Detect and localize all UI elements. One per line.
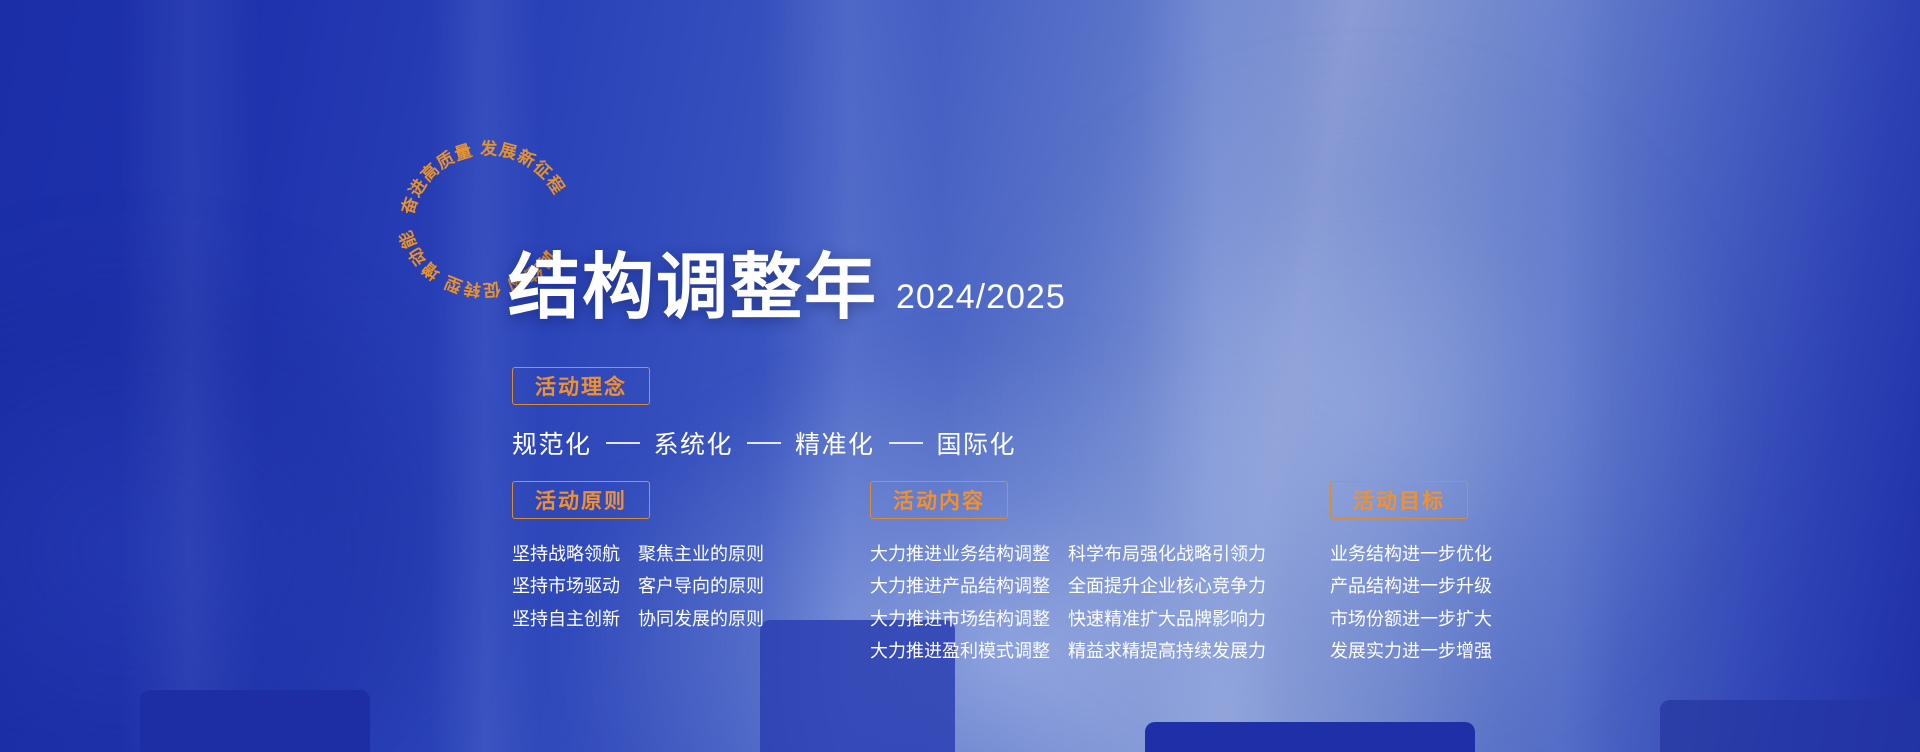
background-block-shape xyxy=(140,690,370,752)
list-item: 大力推进业务结构调整 科学布局强化战略引领力 xyxy=(870,543,1266,566)
background-block-shape xyxy=(1660,700,1920,752)
column-principles: 活动原则 坚持战略领航 聚焦主业的原则 坚持市场驱动 客户导向的原则 坚持自主创… xyxy=(512,481,764,640)
list-item-right: 精益求精提高持续发展力 xyxy=(1068,640,1266,663)
concept-separator-icon xyxy=(747,442,781,444)
concept-items: 规范化 系统化 精准化 国际化 xyxy=(512,425,1016,461)
list-item: 业务结构进一步优化 xyxy=(1330,543,1492,566)
concept-item: 规范化 xyxy=(512,425,592,461)
concept-label: 活动理念 xyxy=(512,367,650,405)
column-goals-body: 业务结构进一步优化 产品结构进一步升级 市场份额进一步扩大 发展实力进一步增强 xyxy=(1330,543,1492,664)
column-goals-label: 活动目标 xyxy=(1330,481,1468,519)
column-content-label: 活动内容 xyxy=(870,481,1008,519)
page-title: 结构调整年 xyxy=(508,252,878,324)
list-item: 产品结构进一步升级 xyxy=(1330,575,1492,598)
list-item-left: 业务结构进一步优化 xyxy=(1330,543,1492,566)
list-item-left: 大力推进盈利模式调整 xyxy=(870,640,1050,663)
list-item-left: 产品结构进一步升级 xyxy=(1330,575,1492,598)
list-item-right: 快速精准扩大品牌影响力 xyxy=(1068,608,1266,631)
campaign-banner: 奋进高质量 发展新征程 调结构 促转型 增动能 结构调整年 2024/2025 … xyxy=(0,0,1920,752)
list-item-left: 坚持市场驱动 xyxy=(512,575,620,598)
column-content: 活动内容 大力推进业务结构调整 科学布局强化战略引领力 大力推进产品结构调整 全… xyxy=(870,481,1266,673)
concept-item: 系统化 xyxy=(654,425,734,461)
list-item-right: 协同发展的原则 xyxy=(638,608,764,631)
list-item: 大力推进盈利模式调整 精益求精提高持续发展力 xyxy=(870,640,1266,663)
list-item-left: 发展实力进一步增强 xyxy=(1330,640,1492,663)
list-item: 大力推进市场结构调整 快速精准扩大品牌影响力 xyxy=(870,608,1266,631)
emblem-arc-top-text: 奋进高质量 发展新征程 xyxy=(397,138,568,217)
background-glow-left xyxy=(0,240,480,752)
column-content-body: 大力推进业务结构调整 科学布局强化战略引领力 大力推进产品结构调整 全面提升企业… xyxy=(870,543,1266,664)
list-item-left: 大力推进市场结构调整 xyxy=(870,608,1050,631)
list-item-left: 大力推进产品结构调整 xyxy=(870,575,1050,598)
list-item-left: 市场份额进一步扩大 xyxy=(1330,608,1492,631)
list-item-right: 聚焦主业的原则 xyxy=(638,543,764,566)
column-principles-body: 坚持战略领航 聚焦主业的原则 坚持市场驱动 客户导向的原则 坚持自主创新 协同发… xyxy=(512,543,764,631)
column-principles-label: 活动原则 xyxy=(512,481,650,519)
concept-item: 国际化 xyxy=(937,425,1017,461)
list-item: 坚持自主创新 协同发展的原则 xyxy=(512,608,764,631)
list-item-left: 大力推进业务结构调整 xyxy=(870,543,1050,566)
background-light-band xyxy=(120,0,260,752)
list-item-right: 客户导向的原则 xyxy=(638,575,764,598)
background-block-shape xyxy=(1145,722,1475,752)
concept-separator-icon xyxy=(606,442,640,444)
headline-year: 2024/2025 xyxy=(896,278,1066,324)
concept-label-wrap: 活动理念 xyxy=(512,367,650,405)
list-item-right: 科学布局强化战略引领力 xyxy=(1068,543,1266,566)
headline-group: 结构调整年 2024/2025 xyxy=(508,252,1066,324)
list-item: 坚持战略领航 聚焦主业的原则 xyxy=(512,543,764,566)
list-item: 坚持市场驱动 客户导向的原则 xyxy=(512,575,764,598)
list-item: 大力推进产品结构调整 全面提升企业核心竞争力 xyxy=(870,575,1266,598)
concept-item: 精准化 xyxy=(795,425,875,461)
background-light-band xyxy=(1500,0,1620,752)
list-item-right: 全面提升企业核心竞争力 xyxy=(1068,575,1266,598)
list-item: 发展实力进一步增强 xyxy=(1330,640,1492,663)
list-item-left: 坚持战略领航 xyxy=(512,543,620,566)
column-goals: 活动目标 业务结构进一步优化 产品结构进一步升级 市场份额进一步扩大 发展实力进… xyxy=(1330,481,1492,673)
list-item: 市场份额进一步扩大 xyxy=(1330,608,1492,631)
list-item-left: 坚持自主创新 xyxy=(512,608,620,631)
concept-separator-icon xyxy=(889,442,923,444)
